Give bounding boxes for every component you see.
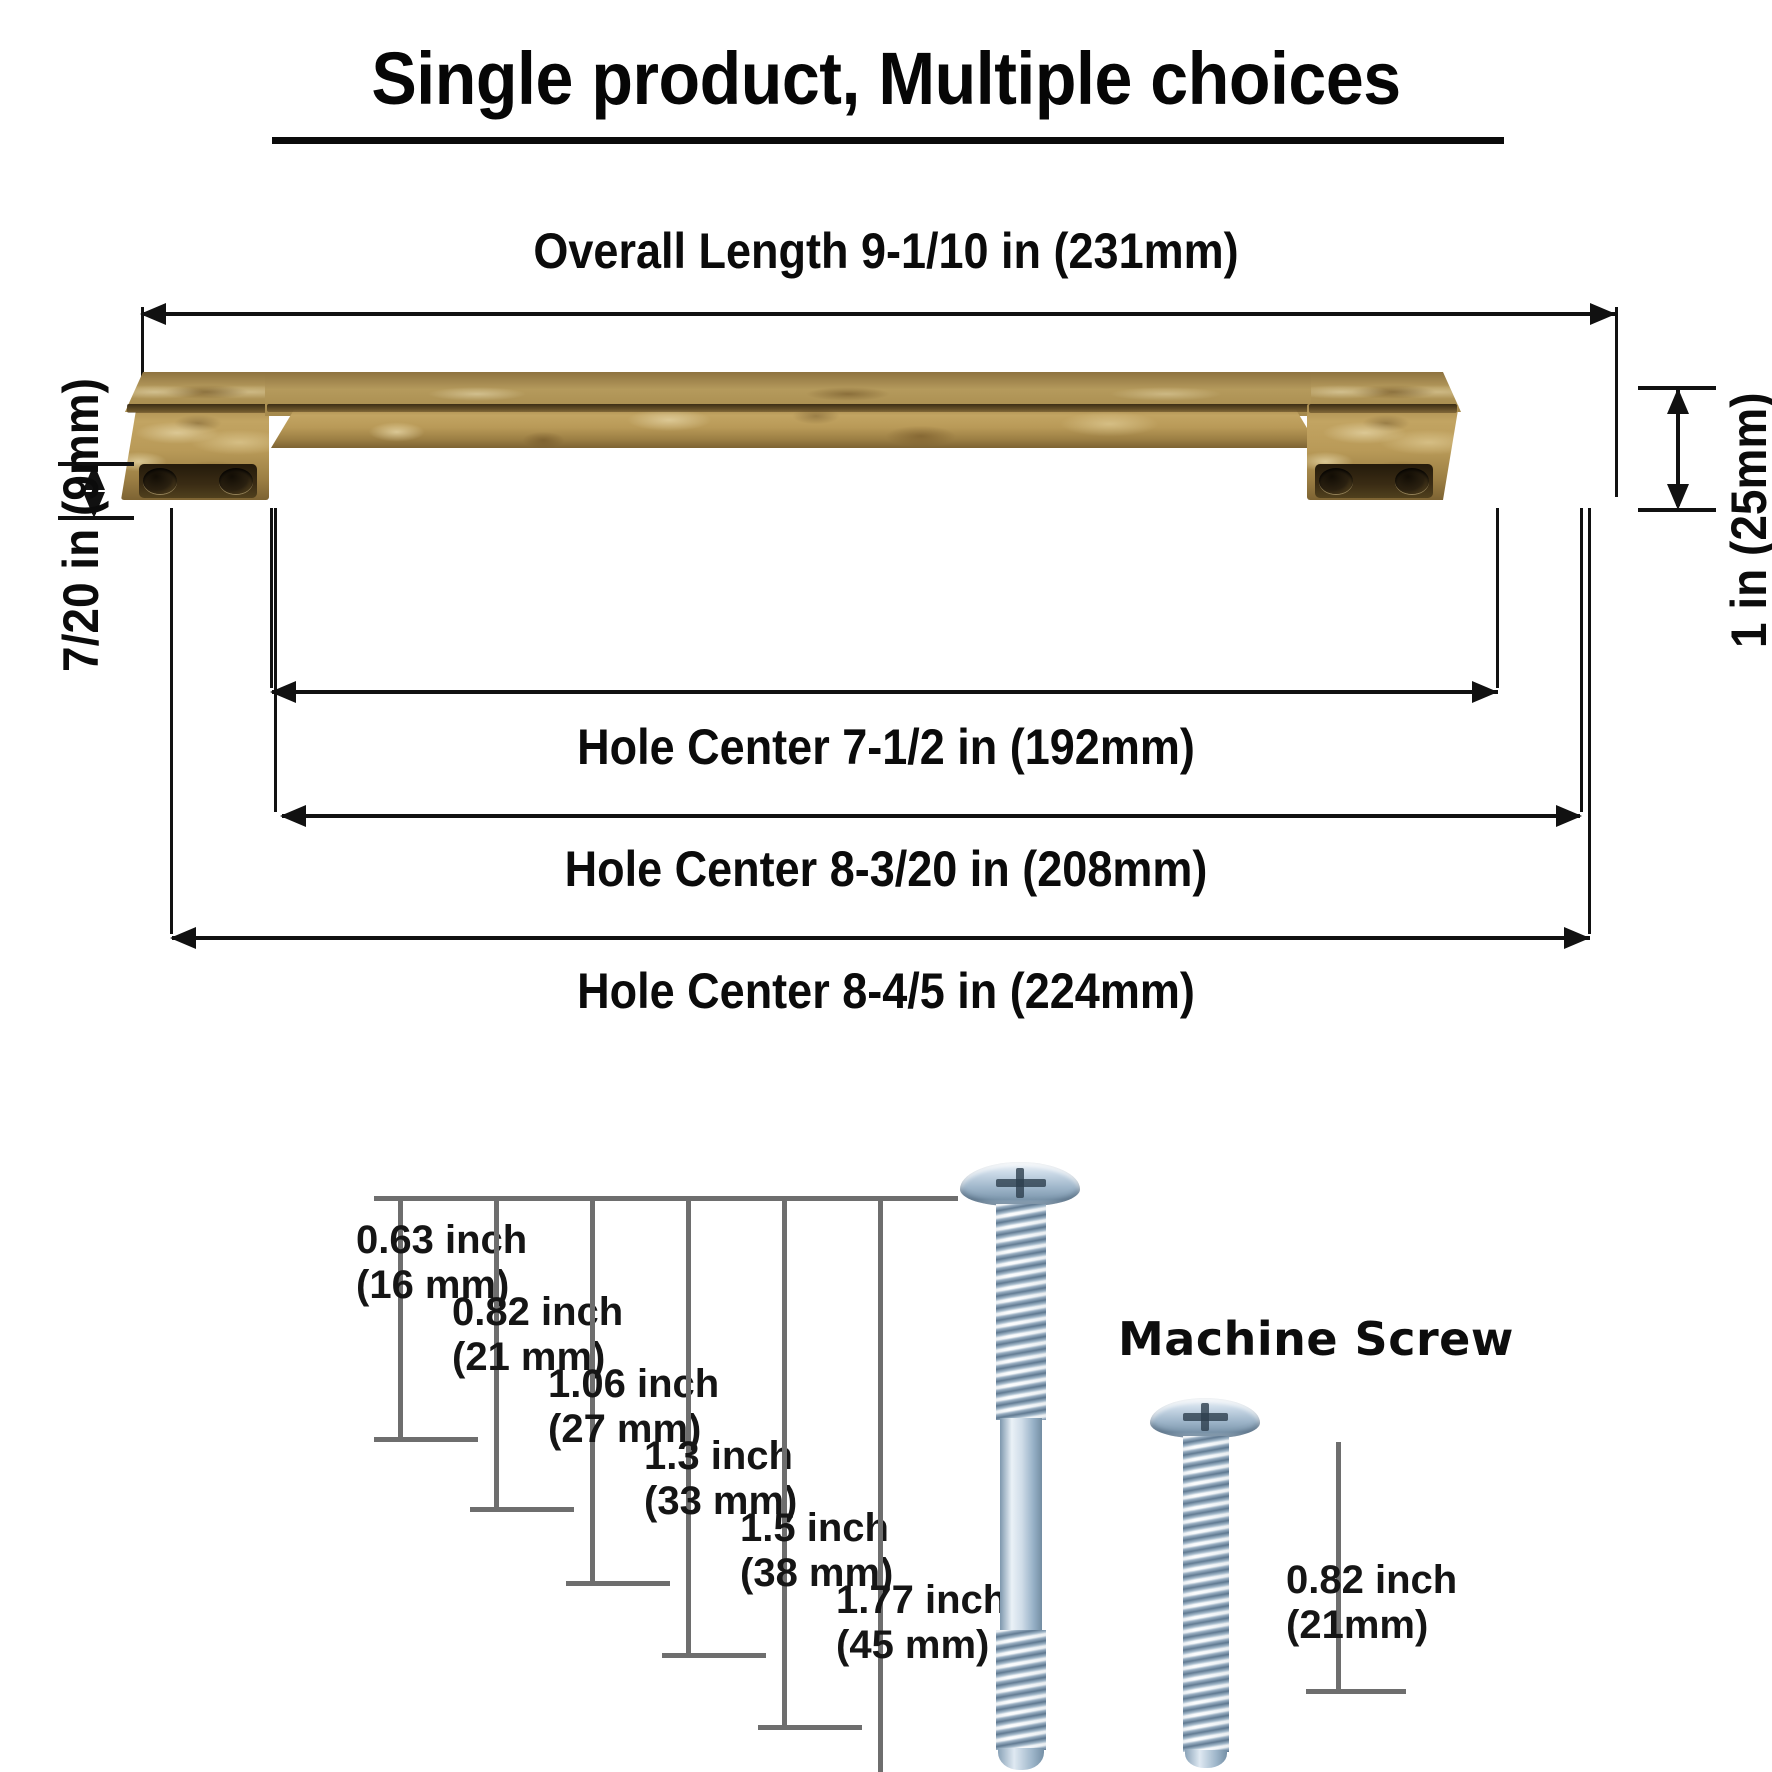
screw-tick-4-cap	[662, 1196, 766, 1201]
hole-center-1-label: Hole Center 7-1/2 in (192mm)	[577, 718, 1195, 776]
hole-center-2-extension-left	[274, 508, 277, 812]
handle-right-seam	[1309, 404, 1457, 413]
screw-tick-1-foot	[374, 1437, 478, 1442]
handle-hole-left-outer	[143, 468, 177, 494]
screw-tick-4-stem	[686, 1200, 691, 1656]
handle-hole-right-inner	[1319, 468, 1353, 494]
screw-tick-5-cap	[758, 1196, 862, 1201]
hole-center-2-label: Hole Center 8-3/20 in (208mm)	[565, 840, 1208, 898]
long-screw-plain-shank	[1000, 1418, 1042, 1632]
screw-tick-3-cap	[566, 1196, 670, 1201]
screw-length-4-inch: 1.3 inch	[644, 1434, 793, 1478]
product-dimension-diagram: Single product, Multiple choices Overall…	[0, 0, 1772, 1772]
hole-center-2-arrow-right	[1556, 805, 1582, 827]
hole-center-3-arrow-left	[170, 927, 196, 949]
machine-screw-length-mm: (21mm)	[1286, 1603, 1457, 1648]
height-arrow-down	[1667, 484, 1689, 510]
hole-center-3-label: Hole Center 8-4/5 in (224mm)	[577, 962, 1195, 1020]
machine-screw-tick-foot	[1306, 1689, 1406, 1694]
machine-screw-title: Machine Screw	[1118, 1312, 1514, 1366]
screw-tick-2-cap	[470, 1196, 574, 1201]
long-screw-image	[960, 1162, 1080, 1772]
title-underline	[272, 137, 1504, 144]
overall-length-extension-right	[1615, 307, 1618, 497]
machine-screw-image	[1150, 1398, 1260, 1770]
hole-center-1-extension-right	[1496, 508, 1499, 688]
long-screw-threaded-lower	[996, 1630, 1046, 1750]
page-title: Single product, Multiple choices	[71, 36, 1701, 121]
handle-left-seam	[127, 404, 273, 413]
machine-screw-tip	[1185, 1750, 1227, 1768]
screw-tick-6-stem	[878, 1200, 883, 1772]
hole-center-3-extension-left	[170, 508, 173, 934]
screw-tick-2-foot	[470, 1507, 574, 1512]
hole-center-3-extension-right	[1588, 508, 1591, 934]
long-screw-threaded-upper	[996, 1204, 1046, 1420]
overall-length-dimension-line	[142, 312, 1616, 316]
overall-length-label: Overall Length 9-1/10 in (231mm)	[533, 222, 1238, 280]
handle-hole-left-inner	[219, 468, 253, 494]
handle-top-rail-face	[271, 408, 1319, 448]
hole-center-3-arrow-right	[1564, 927, 1590, 949]
thickness-label: 7/20 in (9mm)	[52, 378, 110, 672]
machine-screw-length-inch: 0.82 inch	[1286, 1558, 1457, 1602]
screw-length-1-inch: 0.63 inch	[356, 1218, 527, 1262]
screw-length-3-inch: 1.06 inch	[548, 1362, 719, 1406]
screw-tick-5-foot	[758, 1725, 862, 1730]
height-label: 1 in (25mm)	[1720, 392, 1772, 648]
long-screw-phillips-slot-horizontal	[996, 1179, 1046, 1187]
machine-screw-length-label: 0.82 inch (21mm)	[1286, 1558, 1457, 1648]
long-screw-tip	[998, 1748, 1044, 1770]
hole-center-2-dimension-line	[282, 814, 1580, 818]
cabinet-handle-image	[115, 352, 1465, 512]
screw-tick-1-cap	[374, 1196, 478, 1201]
handle-hole-right-outer	[1395, 468, 1429, 494]
machine-screw-threads	[1183, 1436, 1229, 1752]
hole-center-2-extension-right	[1580, 508, 1583, 812]
screw-tick-4-foot	[662, 1653, 766, 1658]
screw-tick-3-foot	[566, 1581, 670, 1586]
hole-center-2-arrow-left	[280, 805, 306, 827]
screw-tick-6-cap	[854, 1196, 958, 1201]
screw-length-2-inch: 0.82 inch	[452, 1290, 623, 1334]
hole-center-1-dimension-line	[272, 690, 1498, 694]
screw-tick-5-stem	[782, 1200, 787, 1728]
screw-length-5-inch: 1.5 inch	[740, 1506, 889, 1550]
handle-rail-seam	[267, 404, 1323, 412]
hole-center-3-dimension-line	[172, 936, 1590, 940]
hole-center-1-arrow-right	[1472, 681, 1498, 703]
hole-center-1-extension-left	[270, 508, 273, 688]
overall-length-arrow-right	[1590, 303, 1616, 325]
machine-screw-phillips-slot-horizontal	[1183, 1413, 1228, 1421]
height-arrow-up	[1667, 388, 1689, 414]
